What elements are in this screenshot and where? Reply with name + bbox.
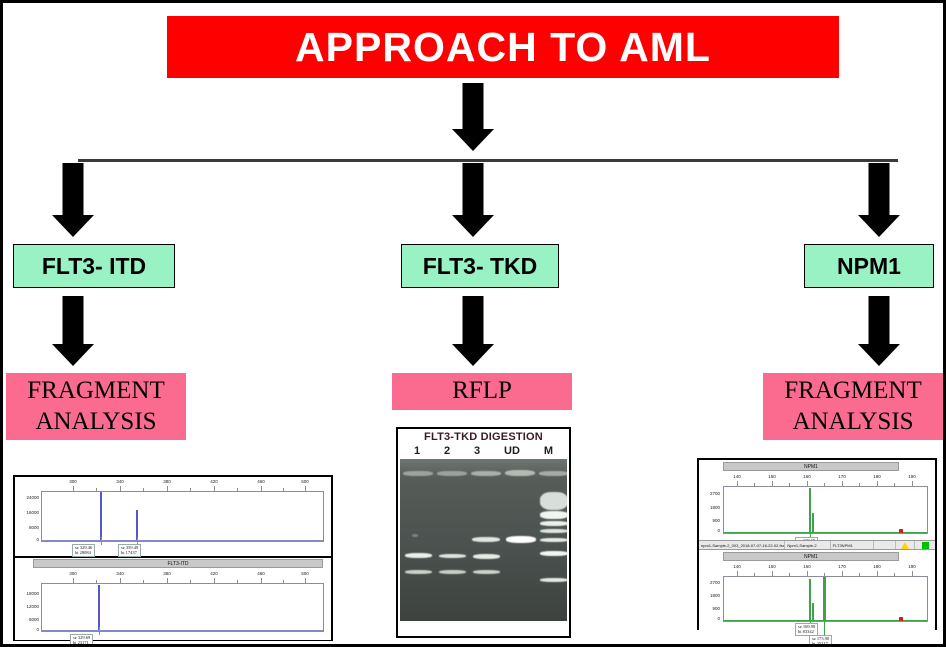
- npm1-sample-info-bar[interactable]: npm1-Sample-2_003_2018-07-07-16-22-02.fs…: [699, 540, 935, 550]
- npm1-status-ok-cell[interactable]: [915, 541, 935, 549]
- npm1-p2-ytick-2: 900: [699, 606, 720, 611]
- gel-title: FLT3-TKD DIGESTION: [398, 429, 569, 443]
- npm1-p1-peak-1: [809, 488, 811, 533]
- flt3-itd-p1-xtick-1: 340: [116, 479, 124, 484]
- flt3-itd-p1-callout-2: sz 359.49 ht 17437: [118, 544, 141, 557]
- page-title: APPROACH TO AML: [295, 24, 711, 71]
- gel-lane-label-2: 2: [444, 445, 450, 457]
- method-right-line2: ANALYSIS: [792, 407, 913, 438]
- method-left-line2: ANALYSIS: [35, 407, 156, 438]
- gel-lane-label-1: 1: [414, 445, 420, 457]
- npm1-p2-peak-1b: [812, 603, 814, 621]
- npm1-p1-xtick-0: 140: [733, 474, 741, 479]
- flt3-itd-p1-xtick-0: 300: [69, 479, 77, 484]
- method-right-line1: FRAGMENT: [784, 376, 922, 407]
- npm1-panel-1: NPM1 140 150 160 170 180 190: [699, 462, 935, 540]
- gene-box-npm1-label: NPM1: [837, 253, 901, 280]
- flt3-itd-p2-xtick-1: 340: [116, 571, 124, 576]
- npm1-p2-peak2-height: ht 25217: [812, 641, 829, 646]
- flt3-itd-p2-xtick-3: 420: [210, 571, 218, 576]
- flt3-itd-p1-xtick-4: 460: [257, 479, 265, 484]
- npm1-p2-ytick-1: 1800: [699, 593, 720, 598]
- npm1-p2-xtick-2: 160: [803, 564, 811, 569]
- npm1-p2-peak-2: [823, 577, 826, 621]
- slide-title-banner: APPROACH TO AML: [167, 16, 839, 78]
- gel-lane-label-3: 3: [474, 445, 480, 457]
- flt3-itd-p2-ytick-0: 18000: [17, 591, 39, 596]
- flt3-itd-p2-ytick-3: 0: [17, 627, 39, 632]
- warning-triangle-icon: [901, 542, 909, 549]
- npm1-p2-xtick-4: 180: [873, 564, 881, 569]
- flt3-itd-p1-peak-1: [100, 492, 102, 541]
- npm1-p1-peak-1b: [812, 513, 814, 533]
- npm1-panel-1-header: NPM1: [723, 462, 899, 471]
- gene-box-npm1[interactable]: NPM1: [804, 244, 934, 288]
- flt3-itd-p2-ytick-1: 12000: [17, 604, 39, 609]
- flt3-itd-p2-xtick-5: 500: [301, 571, 309, 576]
- gel-lane-label-ud: UD: [504, 445, 520, 457]
- gene-box-flt3-itd-label: FLT3- ITD: [42, 253, 146, 280]
- npm1-p1-xtick-4: 180: [873, 474, 881, 479]
- npm1-run-name-cell: npm1-Sample-2_003_2018-07-07-16-22-02.fs…: [699, 541, 785, 549]
- slide-canvas: APPROACH TO AML FLT3- ITD FLT3- TKD NPM1: [0, 0, 946, 647]
- arrow-to-branch-2: [451, 163, 495, 237]
- npm1-p2-ytick-0: 2700: [699, 580, 720, 585]
- npm1-panel-name-cell: FLT3NPM1: [831, 541, 874, 549]
- flt3-itd-panel-1: 300 340 380 420 460 500 24000 1600: [15, 477, 331, 558]
- npm1-p1-ytick-0: 2700: [699, 491, 720, 496]
- npm1-plot-1: 140 150 160 170 180 190 2700 1800 900: [699, 473, 935, 540]
- flt3-itd-p1-ytick-2: 8000: [17, 525, 39, 530]
- flt3-itd-panel-2-header: FLT3-ITD: [33, 559, 323, 568]
- flt3-itd-p1-peak1-height: ht 28084: [75, 550, 92, 555]
- gene-box-flt3-itd[interactable]: FLT3- ITD: [13, 244, 175, 288]
- flt3-itd-p2-xtick-4: 460: [257, 571, 265, 576]
- npm1-p2-xtick-3: 170: [838, 564, 846, 569]
- npm1-p1-size-marker: [899, 529, 903, 533]
- arrow-to-branch-1: [51, 163, 95, 237]
- npm1-p2-callout-2: sz 173.90 ht 25217: [809, 635, 832, 647]
- npm1-p2-peak-1: [809, 579, 811, 621]
- npm1-plot-2: 140 150 160 170 180 190 2700 1800 900: [699, 563, 935, 632]
- method-box-fragment-analysis-right[interactable]: FRAGMENT ANALYSIS: [763, 373, 943, 440]
- flt3-itd-fragment-analysis-figure: 300 340 380 420 460 500 24000 1600: [13, 475, 333, 641]
- npm1-p1-xtick-2: 160: [803, 474, 811, 479]
- flt3-itd-p1-ytick-0: 24000: [17, 495, 39, 500]
- flt3-itd-p2-peak1-height: ht 23171: [73, 640, 90, 645]
- flt3-itd-p1-ytick-1: 16000: [17, 510, 39, 515]
- gel-photo: [400, 459, 567, 621]
- flt3-itd-p2-peak-1: [98, 585, 100, 631]
- flt3-itd-p2-xtick-0: 300: [69, 571, 77, 576]
- npm1-sample-name-cell: Npm1-Sample-2: [785, 541, 830, 549]
- flt3-itd-p1-xtick-3: 420: [210, 479, 218, 484]
- flt3-itd-p1-xtick-5: 500: [301, 479, 309, 484]
- npm1-p1-ytick-3: 0: [699, 528, 720, 533]
- gene-box-flt3-tkd-label: FLT3- TKD: [423, 253, 538, 280]
- arrow-branch-1-to-method: [51, 296, 95, 366]
- npm1-panel-2: NPM1 140 150 160 170 180 190: [699, 552, 935, 632]
- npm1-p2-size-marker: [899, 617, 903, 621]
- npm1-p1-ytick-1: 1800: [699, 505, 720, 510]
- gel-lane-label-m: M: [544, 445, 553, 457]
- flt3-itd-p2-callout-1: sz 329.69 ht 23171: [70, 634, 93, 647]
- flt3-itd-p1-peak2-height: ht 17437: [121, 550, 138, 555]
- arrow-branch-3-to-method: [857, 296, 901, 366]
- method-center-line1: RFLP: [452, 376, 512, 407]
- flt3-itd-plot-1: 300 340 380 420 460 500 24000 1600: [15, 477, 331, 556]
- flt3-itd-p1-xtick-2: 380: [163, 479, 171, 484]
- npm1-p2-peak1-height: ht 83342: [798, 629, 815, 634]
- method-box-rflp[interactable]: RFLP: [392, 373, 572, 410]
- arrow-to-branch-3: [857, 163, 901, 237]
- npm1-p2-xtick-1: 150: [768, 564, 776, 569]
- npm1-p1-xtick-3: 170: [838, 474, 846, 479]
- arrow-branch-2-to-method: [451, 296, 495, 366]
- npm1-p2-xtick-0: 140: [733, 564, 741, 569]
- flt3-tkd-gel-figure: FLT3-TKD DIGESTION 1 2 3 UD M: [396, 427, 571, 638]
- npm1-blank-cell: [874, 541, 896, 549]
- flt3-itd-p1-ytick-3: 0: [17, 537, 39, 542]
- flt3-itd-p1-callout-1: sz 329.46 ht 28084: [72, 544, 95, 557]
- flt3-itd-panel-2: FLT3-ITD 300 340 380 420 460 500: [15, 559, 331, 640]
- status-ok-square-icon: [922, 542, 929, 549]
- npm1-panel-2-header: NPM1: [723, 552, 899, 561]
- npm1-p2-xtick-5: 190: [908, 564, 916, 569]
- npm1-p2-callout-1: sz 169.90 ht 83342: [795, 623, 818, 636]
- method-box-fragment-analysis-left[interactable]: FRAGMENT ANALYSIS: [6, 373, 186, 440]
- method-left-line1: FRAGMENT: [27, 376, 165, 407]
- npm1-p1-xtick-1: 150: [768, 474, 776, 479]
- gel-lane-labels: 1 2 3 UD M: [398, 443, 569, 459]
- npm1-p1-xtick-5: 190: [908, 474, 916, 479]
- flt3-itd-p2-ytick-2: 6000: [17, 617, 39, 622]
- arrow-title-to-split: [451, 83, 495, 151]
- npm1-p2-ytick-3: 0: [699, 616, 720, 621]
- npm1-status-warning-cell[interactable]: [896, 541, 916, 549]
- flt3-itd-p2-xtick-2: 380: [163, 571, 171, 576]
- npm1-p1-ytick-2: 900: [699, 518, 720, 523]
- flt3-itd-plot-2: 300 340 380 420 460 500 18000 12000 6000: [15, 569, 331, 640]
- branch-connector-line: [78, 159, 898, 162]
- gene-box-flt3-tkd[interactable]: FLT3- TKD: [401, 244, 559, 288]
- npm1-fragment-analysis-figure: NPM1 140 150 160 170 180 190: [697, 458, 937, 630]
